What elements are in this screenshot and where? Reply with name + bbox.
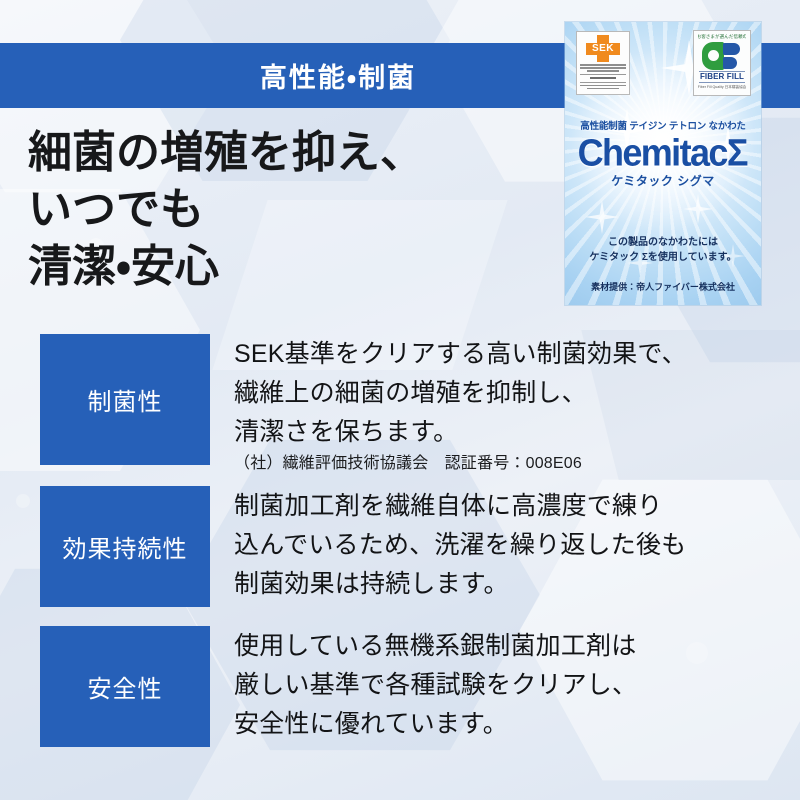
- feature-row: 効果持続性 制菌加工剤を繊維自体に高濃度で練り 込んでいるため、洗濯を繰り返した…: [0, 486, 800, 626]
- headline-line-3: 清潔・安心: [28, 238, 424, 295]
- package-footnote: この製品のなかわたには ケミタック Σを使用しています。: [565, 235, 761, 265]
- sek-mark-label: SEK: [586, 42, 620, 55]
- feature-label-durability: 効果持続性: [40, 486, 210, 607]
- feature-label-safety: 安全性: [40, 626, 210, 747]
- package-logotype-sigma: Σ: [727, 131, 749, 174]
- package-material-credit: 素材提供：帝人ファイバー株式会社: [565, 280, 761, 293]
- feature-list: 制菌性 SEK基準をクリアする高い制菌効果で、 繊維上の細菌の増殖を抑制し、 清…: [0, 334, 800, 766]
- package-logotype: ChemitacΣ: [565, 132, 761, 174]
- feature-text-line: 安全性に優れています。: [234, 705, 800, 744]
- fiber-fill-certification-icon: お客さまが選んだ信頼の FIBER FILL Fiber Fill Qualit…: [693, 30, 751, 96]
- product-package-image: SEK お客さまが選んだ信頼の: [565, 22, 761, 305]
- feature-row: 制菌性 SEK基準をクリアする高い制菌効果で、 繊維上の細菌の増殖を抑制し、 清…: [0, 334, 800, 486]
- fiber-fill-arc-text: お客さまが選んだ信頼の: [698, 32, 746, 41]
- fiber-fill-fineprint: Fiber Fill Quality 日本寝装協会: [698, 85, 747, 90]
- banner-title: 高性能・制菌: [260, 56, 416, 95]
- sek-certification-icon: SEK: [576, 31, 630, 95]
- package-footnote-line-2: ケミタック Σを使用しています。: [565, 250, 761, 265]
- headline-line-1: 細菌の増殖を抑え、: [28, 124, 424, 181]
- sek-caption-band: [580, 74, 626, 83]
- feature-text-line: 繊維上の細菌の増殖を抑制し、: [234, 374, 800, 413]
- sek-fineprint-2: [580, 85, 626, 90]
- package-brand-block: 高性能制菌 テイジン テトロン なかわた ChemitacΣ ケミタック シグマ: [565, 118, 761, 189]
- sek-fineprint: [580, 64, 626, 72]
- feature-text-line: 制菌加工剤を繊維自体に高濃度で練り: [234, 487, 800, 526]
- package-certification-logos: SEK お客さまが選んだ信頼の: [565, 22, 761, 108]
- fiber-fill-name: FIBER FILL: [699, 71, 745, 83]
- feature-label-antibacterial: 制菌性: [40, 334, 210, 465]
- package-logotype-word: Chemitac: [578, 131, 727, 174]
- feature-text-line: 清潔さを保ちます。: [234, 413, 800, 452]
- feature-body: SEK基準をクリアする高い制菌効果で、 繊維上の細菌の増殖を抑制し、 清潔さを保…: [210, 334, 800, 475]
- feature-body: 使用している無機系銀制菌加工剤は 厳しい基準で各種試験をクリアし、 安全性に優れ…: [210, 626, 800, 744]
- poster-root: 高性能・制菌 細菌の増殖を抑え、 いつでも 清潔・安心 SEK: [0, 0, 800, 800]
- package-footnote-line-1: この製品のなかわたには: [565, 235, 761, 250]
- feature-row: 安全性 使用している無機系銀制菌加工剤は 厳しい基準で各種試験をクリアし、 安全…: [0, 626, 800, 766]
- page-title: 細菌の増殖を抑え、 いつでも 清潔・安心: [28, 124, 424, 296]
- feature-text-line: 込んでいるため、洗濯を繰り返した後も: [234, 526, 800, 565]
- sek-cross-icon: SEK: [586, 35, 620, 62]
- feature-body: 制菌加工剤を繊維自体に高濃度で練り 込んでいるため、洗濯を繰り返した後も 制菌効…: [210, 486, 800, 604]
- feature-text-line: 制菌効果は持続します。: [234, 565, 800, 604]
- feature-text-line: 使用している無機系銀制菌加工剤は: [234, 627, 800, 666]
- package-kana-name: ケミタック シグマ: [565, 172, 761, 189]
- fiber-fill-arc-label: お客さまが選んだ信頼の: [698, 34, 746, 40]
- feature-text-line: 厳しい基準で各種試験をクリアし、: [234, 666, 800, 705]
- headline-line-2: いつでも: [28, 181, 424, 238]
- feature-text-line: SEK基準をクリアする高い制菌効果で、: [234, 335, 800, 374]
- fiber-fill-mark-icon: [700, 42, 744, 70]
- feature-certification-note: （社）繊維評価技術協議会 認証番号：008E06: [234, 453, 800, 475]
